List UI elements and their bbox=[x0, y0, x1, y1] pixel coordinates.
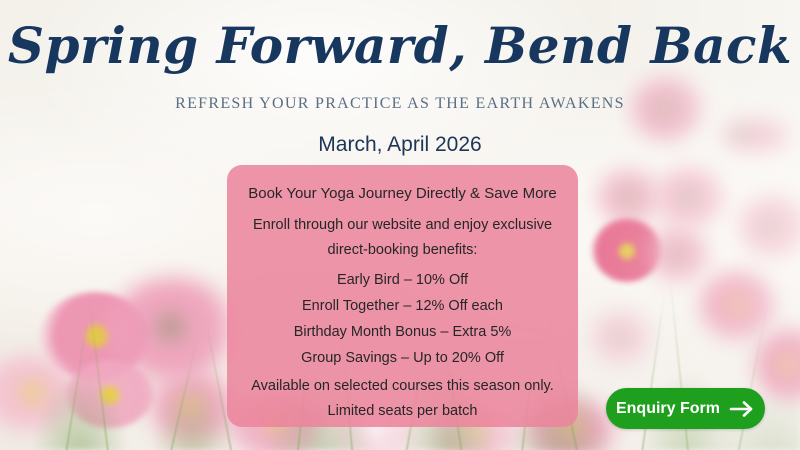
offer-heading: Book Your Yoga Journey Directly & Save M… bbox=[248, 183, 557, 204]
promotional-banner: Spring Forward, Bend Back REFRESH YOUR P… bbox=[0, 0, 800, 450]
offer-seats-note: Limited seats per batch bbox=[328, 399, 478, 424]
event-dateline: March, April 2026 bbox=[0, 131, 800, 159]
offer-availability-note: Available on selected courses this seaso… bbox=[251, 374, 554, 399]
list-item: Birthday Month Bonus – Extra 5% bbox=[237, 319, 568, 345]
page-subtitle: REFRESH YOUR PRACTICE AS THE EARTH AWAKE… bbox=[0, 94, 800, 114]
list-item: Early Bird – 10% Off bbox=[237, 267, 568, 293]
page-title: Spring Forward, Bend Back bbox=[0, 16, 800, 76]
offer-benefits-list: Early Bird – 10% Off Enroll Together – 1… bbox=[237, 267, 568, 371]
enquiry-form-label: Enquiry Form bbox=[616, 400, 720, 418]
arrow-right-icon bbox=[729, 400, 755, 418]
enquiry-form-button[interactable]: Enquiry Form bbox=[606, 388, 765, 429]
offer-intro-text: Enroll through our website and enjoy exc… bbox=[238, 213, 568, 263]
offer-card: Book Your Yoga Journey Directly & Save M… bbox=[227, 165, 578, 427]
list-item: Enroll Together – 12% Off each bbox=[237, 293, 568, 319]
list-item: Group Savings – Up to 20% Off bbox=[237, 345, 568, 371]
